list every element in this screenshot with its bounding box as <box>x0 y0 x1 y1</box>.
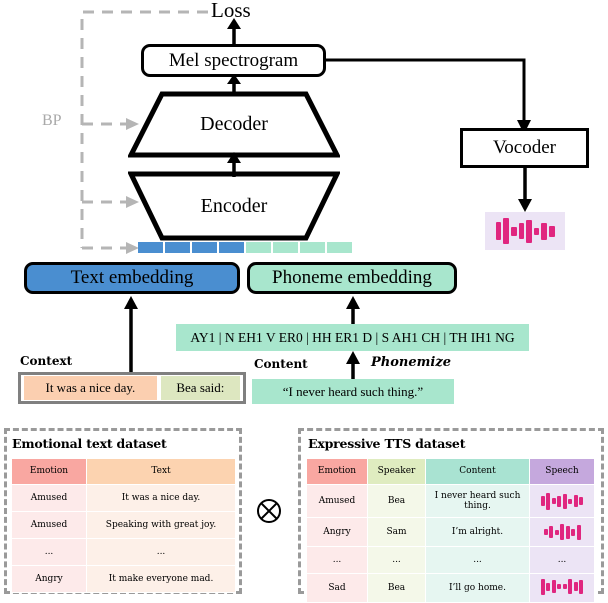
waveform-bar <box>552 498 556 504</box>
cross-product-icon <box>256 498 282 524</box>
phoneme-embedding-block[interactable]: Phoneme embedding <box>247 262 457 294</box>
waveform-bar <box>534 228 539 235</box>
arrow-vocoder-to-waveform <box>513 168 537 214</box>
cell-speaker: Bea <box>368 485 426 518</box>
cell-speech <box>530 485 595 518</box>
waveform-bar <box>511 227 517 236</box>
table-header-row: Emotion Text <box>12 459 236 485</box>
encoder-block[interactable]: Encoder <box>128 170 340 242</box>
cell-content: ... <box>426 547 530 574</box>
mel-spectrogram-label: Mel spectrogram <box>169 50 298 72</box>
waveform-bar <box>579 497 583 505</box>
speech-waveform <box>531 578 593 596</box>
waveform-bar <box>541 579 545 595</box>
waveform-bar <box>577 525 581 540</box>
speech-waveform <box>531 491 593 511</box>
table-row: Amused It was a nice day. <box>12 485 236 512</box>
arrow-mel-to-loss <box>222 18 246 48</box>
cell-speech <box>530 574 595 603</box>
phoneme-embedding-label: Phoneme embedding <box>272 267 432 289</box>
cell-emotion: ... <box>307 547 368 574</box>
cell-emotion: Angry <box>12 566 87 593</box>
cell-text: It make everyone mad. <box>87 566 236 593</box>
token-text-4 <box>219 242 244 253</box>
emotional-text-dataset-table: Emotion Text Amused It was a nice day. A… <box>11 458 236 593</box>
cell-text: Speaking with great joy. <box>87 512 236 539</box>
encoder-label: Encoder <box>201 195 268 218</box>
waveform-bar <box>549 226 555 237</box>
embedding-token-strip <box>138 242 352 253</box>
table-row: Amused Speaking with great joy. <box>12 512 236 539</box>
text-embedding-block[interactable]: Text embedding <box>24 262 240 294</box>
context-sentence-cell: It was a nice day. <box>24 376 157 400</box>
token-text-3 <box>192 242 217 253</box>
waveform-bar <box>549 526 553 538</box>
cell-content: I never heard such thing. <box>426 485 530 518</box>
table-header-row: Emotion Speaker Content Speech <box>307 459 595 485</box>
arrow-context-to-text-embedding <box>119 296 143 374</box>
waveform-bar <box>566 526 570 539</box>
waveform-bar <box>574 495 578 507</box>
content-label: Content <box>254 357 308 371</box>
waveform-bar <box>568 579 572 594</box>
cell-emotion: Angry <box>307 518 368 547</box>
arrow-encoder-to-decoder <box>222 152 246 178</box>
cell-emotion: Amused <box>12 485 87 512</box>
output-waveform <box>485 212 565 250</box>
cell-text: ... <box>87 539 236 566</box>
vocoder-block[interactable]: Vocoder <box>460 128 589 168</box>
cell-speaker: ... <box>368 547 426 574</box>
arrow-decoder-to-mel <box>222 74 246 96</box>
vocoder-label: Vocoder <box>493 137 556 159</box>
column-header-text: Text <box>87 459 236 485</box>
decoder-block[interactable]: Decoder <box>128 91 340 158</box>
cell-emotion: ... <box>12 539 87 566</box>
cell-emotion: Amused <box>12 512 87 539</box>
token-phoneme-4 <box>327 242 352 253</box>
content-sentence-text: “I never heard such thing.” <box>283 384 423 400</box>
cell-speaker: Sam <box>368 518 426 547</box>
column-header-emotion: Emotion <box>12 459 87 485</box>
cell-emotion: Sad <box>307 574 368 603</box>
emotional-text-dataset-title: Emotional text dataset <box>12 436 167 451</box>
phoneme-sequence-text: AY1 | N EH1 V ER0 | HH ER1 D | S AH1 CH … <box>190 330 514 346</box>
bp-label: BP <box>42 112 62 130</box>
token-text-1 <box>138 242 163 253</box>
token-phoneme-3 <box>300 242 325 253</box>
token-text-2 <box>165 242 190 253</box>
context-sentence-text: It was a nice day. <box>45 380 135 396</box>
column-header-speech: Speech <box>530 459 595 485</box>
cell-speaker: Bea <box>368 574 426 603</box>
expressive-tts-dataset-title: Expressive TTS dataset <box>308 436 465 451</box>
table-row: ... ... ... ... <box>307 547 595 574</box>
table-row: Amused Bea I never heard such thing. <box>307 485 595 518</box>
context-speaker-text: Bea said: <box>176 380 224 396</box>
column-header-emotion: Emotion <box>307 459 368 485</box>
column-header-content: Content <box>426 459 530 485</box>
waveform-bar <box>563 584 567 589</box>
context-label: Context <box>20 354 72 368</box>
mel-spectrogram-block[interactable]: Mel spectrogram <box>141 44 326 77</box>
waveform-bar <box>541 496 545 506</box>
text-embedding-label: Text embedding <box>71 267 194 289</box>
waveform-bar <box>526 220 532 243</box>
waveform-bar <box>555 530 559 535</box>
waveform-bar <box>560 524 564 540</box>
table-row: Angry It make everyone mad. <box>12 566 236 593</box>
waveform-bar <box>579 580 583 594</box>
table-row: Angry Sam I’m alright. <box>307 518 595 547</box>
waveform-bar <box>546 493 550 510</box>
content-strip: “I never heard such thing.” <box>252 379 454 404</box>
cell-speech <box>530 518 595 547</box>
token-phoneme-2 <box>273 242 298 253</box>
phoneme-sequence-strip: AY1 | N EH1 V ER0 | HH ER1 D | S AH1 CH … <box>176 324 529 351</box>
waveform-bar <box>552 580 556 593</box>
waveform-bar <box>557 584 561 589</box>
waveform-bar <box>568 499 572 504</box>
waveform-bar <box>574 582 578 591</box>
table-row: ... ... <box>12 539 236 566</box>
waveform-bar <box>557 496 561 507</box>
token-phoneme-1 <box>246 242 271 253</box>
table-row: Sad Bea I’ll go home. <box>307 574 595 603</box>
speech-waveform <box>531 523 593 541</box>
cell-text: It was a nice day. <box>87 485 236 512</box>
cell-content: I’ll go home. <box>426 574 530 603</box>
cell-speech: ... <box>530 547 595 574</box>
waveform-bar <box>544 529 548 535</box>
waveform-bar <box>541 223 547 240</box>
waveform-bar <box>563 494 567 509</box>
waveform-bar <box>546 583 550 591</box>
column-header-speaker: Speaker <box>368 459 426 485</box>
waveform-bar <box>519 223 524 239</box>
decoder-label: Decoder <box>200 113 268 136</box>
expressive-tts-dataset-table: Emotion Speaker Content Speech Amused Be… <box>306 458 595 603</box>
phonemize-label: Phonemize <box>371 355 451 370</box>
context-box: It was a nice day. Bea said: <box>18 372 246 404</box>
waveform-bar <box>496 222 501 240</box>
waveform-bar <box>571 529 575 536</box>
cell-emotion: Amused <box>307 485 368 518</box>
context-speaker-cell: Bea said: <box>161 376 240 400</box>
cell-content: I’m alright. <box>426 518 530 547</box>
waveform-bar <box>503 218 509 244</box>
